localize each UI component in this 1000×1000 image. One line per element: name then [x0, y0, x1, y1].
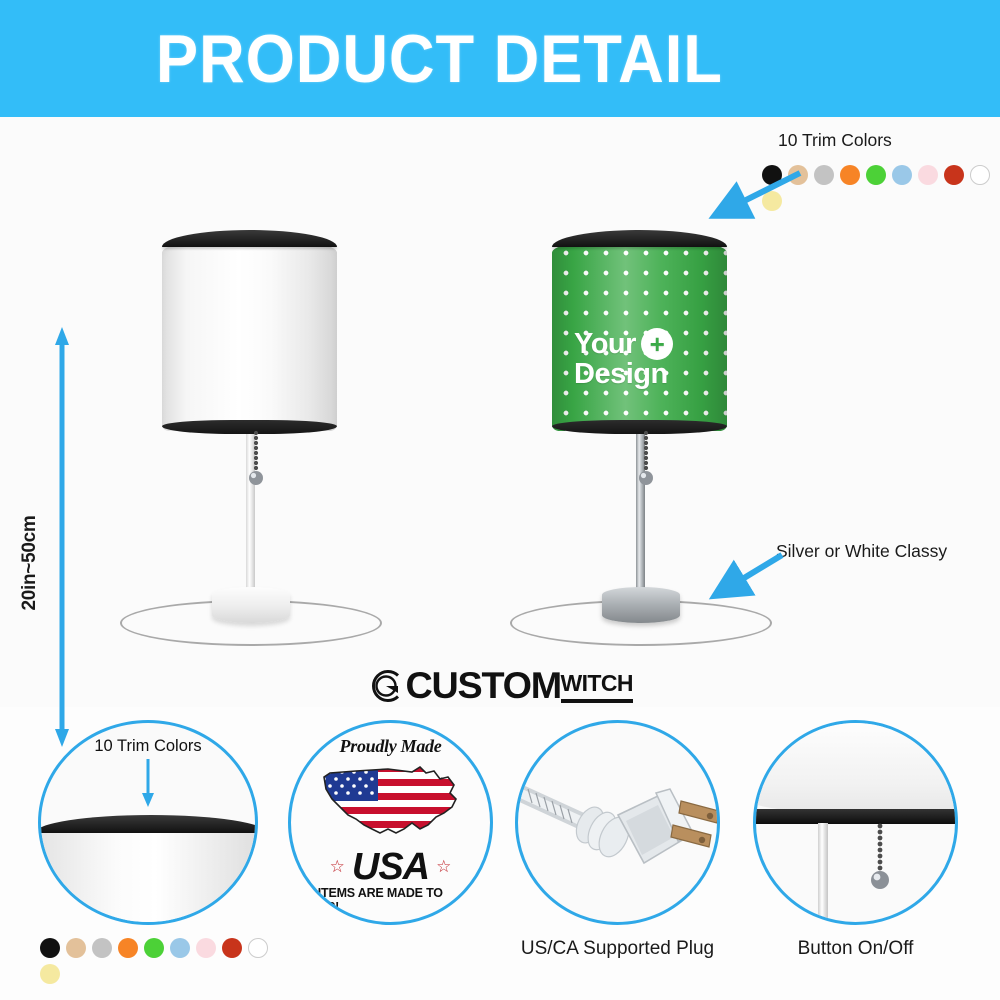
shade-trim-top	[162, 230, 337, 247]
feature-caption-switch: Button On/Off	[753, 938, 958, 960]
shade-trim-top	[552, 230, 727, 247]
lamp-base-silver	[602, 587, 680, 623]
shade-surface	[753, 720, 958, 813]
swatch-white[interactable]	[970, 165, 990, 185]
swatch-gray[interactable]	[92, 938, 112, 958]
header-banner: PRODUCT DETAIL	[0, 0, 1000, 117]
lamp-pole	[818, 823, 828, 925]
shade-surface	[38, 824, 258, 925]
page-title: PRODUCT DETAIL	[156, 20, 844, 98]
feature-circle-usa: Proudly Made in the	[288, 720, 493, 925]
power-plug-icon	[518, 763, 720, 898]
usa-badge: Proudly Made in the	[291, 723, 490, 922]
swatch-gray[interactable]	[814, 165, 834, 185]
trim-colors-inner-label: 10 Trim Colors	[41, 737, 255, 756]
lamp-base-white	[212, 587, 290, 623]
feature-caption-plug: US/CA Supported Plug	[515, 938, 720, 960]
swatch-green[interactable]	[866, 165, 886, 185]
swatch-yellow[interactable]	[40, 964, 60, 984]
feature-switch: Button On/Off	[753, 720, 958, 925]
pull-chain-icon[interactable]	[246, 430, 266, 497]
usa-map-flag-icon	[316, 759, 466, 847]
trim-colors-swatch-row-bottom	[40, 938, 276, 984]
usa-subtext: ALL ITEMS ARE MADE TO ORDER!	[291, 886, 490, 914]
swatch-white[interactable]	[248, 938, 268, 958]
shade-trim-bottom	[753, 809, 958, 824]
pull-chain-icon[interactable]	[868, 823, 892, 910]
star-icon-left: ☆	[330, 857, 345, 877]
feature-made-in-usa: Proudly Made in the	[288, 720, 493, 925]
lamp-white	[150, 202, 350, 672]
swatch-black[interactable]	[40, 938, 60, 958]
swatch-pink[interactable]	[196, 938, 216, 958]
feature-plug: US/CA Supported Plug	[515, 720, 720, 925]
usa-proudly-made-text: Proudly Made	[340, 736, 442, 756]
lamp-showcase: 7in~18cm 20in~50cm	[0, 117, 1000, 707]
your-design-line1: Your	[574, 330, 636, 359]
brand-name-witch: WITCH	[561, 670, 633, 697]
feature-circle-trim-colors: 10 Trim Colors	[38, 720, 258, 925]
brand-underline	[561, 699, 633, 703]
lamp-shade-green: Your + Design	[552, 230, 727, 430]
feature-trim-colors: 10 Trim Colors	[38, 720, 258, 925]
swatch-green[interactable]	[144, 938, 164, 958]
pull-chain-icon[interactable]	[636, 430, 656, 497]
star-icon-right: ☆	[436, 857, 451, 877]
trim-colors-label-top: 10 Trim Colors	[778, 130, 892, 151]
height-dimension-label: 20in~50cm	[19, 488, 41, 638]
plus-icon: +	[641, 328, 673, 360]
feature-circle-switch	[753, 720, 958, 925]
product-detail-infographic: PRODUCT DETAIL 7in~18cm 20in~50cm	[0, 0, 1000, 1000]
lamp-shade-white	[162, 230, 337, 430]
shade-surface: Your + Design	[552, 239, 727, 431]
usa-text: USA	[352, 848, 429, 886]
swatch-light-blue[interactable]	[170, 938, 190, 958]
your-design-line2: Design	[574, 360, 668, 389]
down-arrow-icon	[141, 759, 155, 812]
brand-c-mark-icon	[367, 666, 407, 706]
feature-circle-plug	[515, 720, 720, 925]
brand-logo: CUSTOM WITCH	[0, 660, 1000, 712]
swatch-orange[interactable]	[840, 165, 860, 185]
brand-name-custom: CUSTOM	[406, 665, 562, 707]
base-finish-label: Silver or White Classy	[776, 541, 947, 562]
shade-surface	[162, 239, 337, 431]
base-finish-pointer-arrow-icon	[700, 549, 790, 612]
swatch-red[interactable]	[944, 165, 964, 185]
swatch-tan[interactable]	[66, 938, 86, 958]
swatch-light-blue[interactable]	[892, 165, 912, 185]
shade-trim-top	[38, 815, 258, 833]
swatch-orange[interactable]	[118, 938, 138, 958]
swatch-red[interactable]	[222, 938, 242, 958]
your-design-placeholder: Your + Design	[574, 328, 673, 389]
swatch-pink[interactable]	[918, 165, 938, 185]
trim-colors-pointer-arrow-icon	[700, 167, 810, 232]
